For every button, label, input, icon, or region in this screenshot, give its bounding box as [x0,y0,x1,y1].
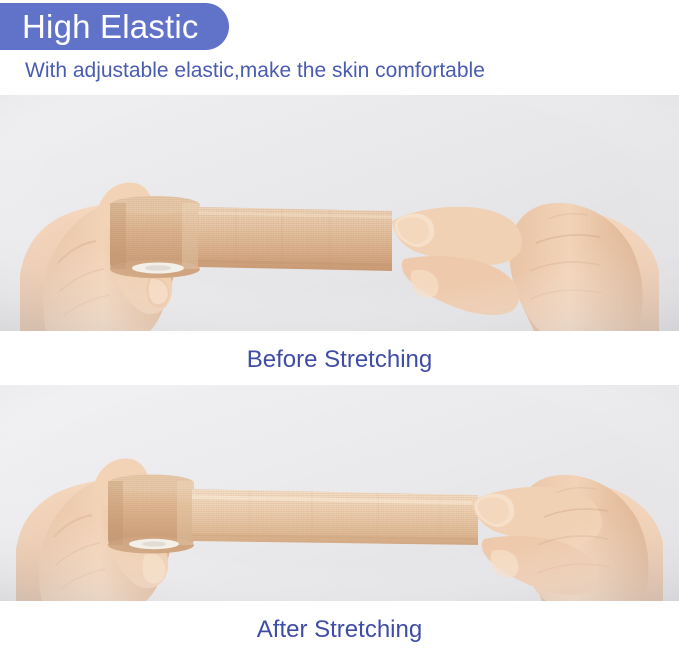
photo-after-stretching [0,385,679,601]
photo-before-stretching [0,95,679,331]
product-infographic: High Elastic With adjustable elastic,mak… [0,0,679,650]
before-stretching-illustration [0,95,679,331]
after-stretching-illustration [0,385,679,601]
high-elastic-badge: High Elastic [0,3,229,50]
badge-label: High Elastic [22,10,199,43]
caption-before-stretching: Before Stretching [0,346,679,374]
subtitle-text: With adjustable elastic,make the skin co… [25,58,485,84]
caption-after-stretching: After Stretching [0,616,679,644]
